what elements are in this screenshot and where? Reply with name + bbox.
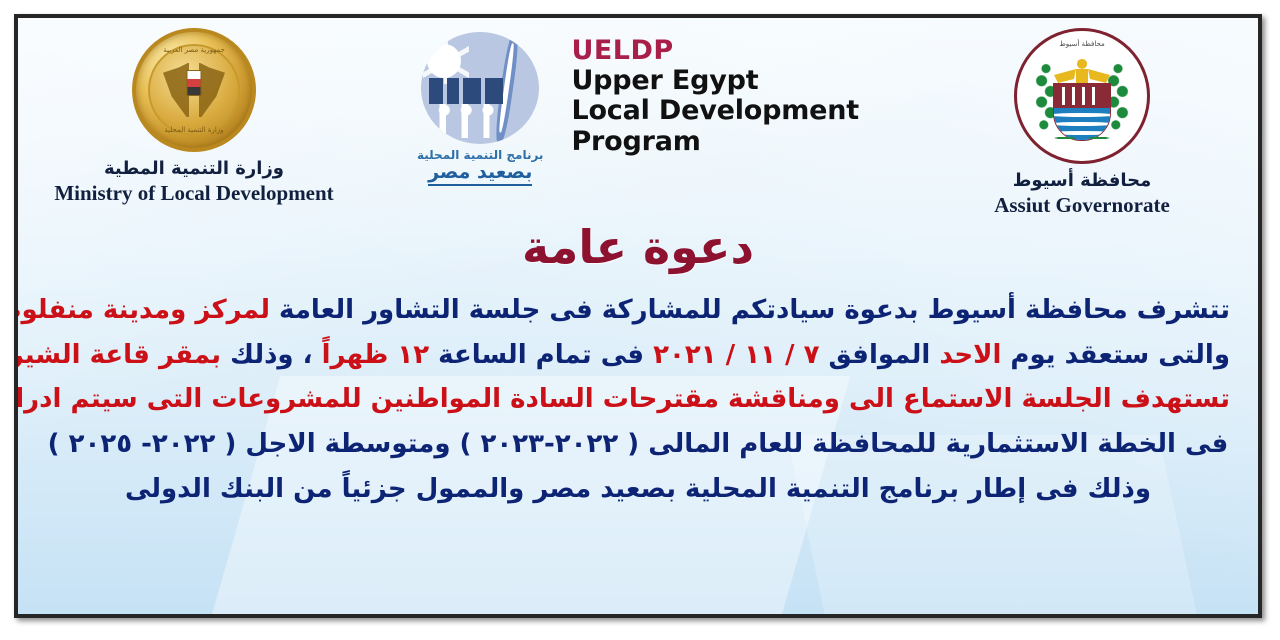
announcement-segment: وذلك فى إطار برنامج التنمية المحلية بصعي… — [125, 474, 1151, 504]
wreath-base-icon — [1054, 133, 1110, 143]
ueldp-emblem-icon — [421, 32, 539, 144]
shield-columns — [1054, 84, 1110, 108]
announcement-body: تتشرف محافظة أسيوط بدعوة سيادتكم للمشارك… — [18, 288, 1258, 512]
ueldp-title-line3: Program — [571, 127, 859, 157]
announcement-line: والتى ستعقد يوم الاحد الموافق ٧ / ١١ / ٢… — [46, 333, 1230, 378]
ueldp-text-block: UELDP Upper Egypt Local Development Prog… — [571, 36, 859, 157]
ueldp-logo-block: برنامج التنمية المحلية بصعيد مصر UELDP U… — [403, 32, 873, 186]
ueldp-arabic-line2: بصعيد مصر — [428, 162, 532, 186]
announcement-segment: ٧ / ١١ / ٢٠٢١ — [644, 340, 819, 370]
assiut-emblem-ring-text: محافظة أسيوط — [1017, 40, 1147, 48]
assiut-caption-arabic: محافظة أسيوط — [1013, 170, 1152, 191]
announcement-segment: ١٢ ظهراً — [313, 340, 430, 370]
announcement-line: وذلك فى إطار برنامج التنمية المحلية بصعي… — [46, 467, 1230, 512]
announcement-line: تستهدف الجلسة الاستماع الى ومناقشة مقترح… — [46, 377, 1230, 422]
announcement-segment: فى الخطة الاستثمارية للمحافظة للعام الما… — [48, 429, 1229, 459]
announcement-segment: تتشرف محافظة أسيوط بدعوة سيادتكم للمشارك… — [270, 295, 1230, 325]
city-skyline-icon — [429, 78, 515, 104]
ueldp-arabic-line1: برنامج التنمية المحلية — [417, 148, 543, 162]
invitation-poster: محافظة أسيوط — [14, 14, 1262, 618]
announcement-segment: والتى ستعقد يوم — [1001, 340, 1230, 370]
announcement-segment: الاحد — [930, 340, 1001, 370]
announcement-segment: ، وذلك — [221, 340, 312, 370]
announcement-segment: فى تمام الساعة — [429, 340, 644, 370]
announcement-segment: بمقر قاعة الشيراتون — [14, 340, 221, 370]
ueldp-acronym: UELDP — [571, 36, 859, 66]
poster-inner: محافظة أسيوط — [18, 18, 1258, 614]
assiut-governorate-emblem: محافظة أسيوط — [1014, 28, 1150, 164]
ueldp-title-line1: Upper Egypt — [571, 66, 859, 96]
egypt-flag-shield-icon — [187, 70, 202, 96]
announcement-line: تتشرف محافظة أسيوط بدعوة سيادتكم للمشارك… — [46, 288, 1230, 333]
ministry-caption-arabic: وزارة التنمية المطية — [104, 158, 284, 179]
ministry-logo-block: جمهورية مصر العربية وزارة التنمية المحلي… — [44, 28, 344, 206]
announcement-segment: لمركز ومدينة منفلوط — [14, 295, 270, 325]
sun-icon — [427, 44, 461, 78]
family-people-icon — [435, 104, 513, 138]
ministry-of-local-development-emblem: جمهورية مصر العربية وزارة التنمية المحلي… — [132, 28, 256, 152]
announcement-line: فى الخطة الاستثمارية للمحافظة للعام الما… — [46, 422, 1230, 467]
ministry-emblem-ring-bottom: وزارة التنمية المحلية — [136, 126, 252, 134]
announcement-segment: تستهدف الجلسة الاستماع الى ومناقشة مقترح… — [14, 384, 1230, 414]
page-title: دعوة عامة — [18, 220, 1258, 274]
assiut-caption-english: Assiut Governorate — [994, 193, 1170, 218]
ministry-caption-english: Ministry of Local Development — [54, 181, 333, 206]
ministry-emblem-ring-top: جمهورية مصر العربية — [136, 46, 252, 54]
assiut-governorate-logo-block: محافظة أسيوط — [932, 28, 1232, 218]
poster-header: محافظة أسيوط — [18, 18, 1258, 218]
announcement-segment: الموافق — [819, 340, 930, 370]
ueldp-title-line2: Local Development — [571, 96, 859, 126]
ueldp-logo-mark: برنامج التنمية المحلية بصعيد مصر — [417, 32, 543, 186]
